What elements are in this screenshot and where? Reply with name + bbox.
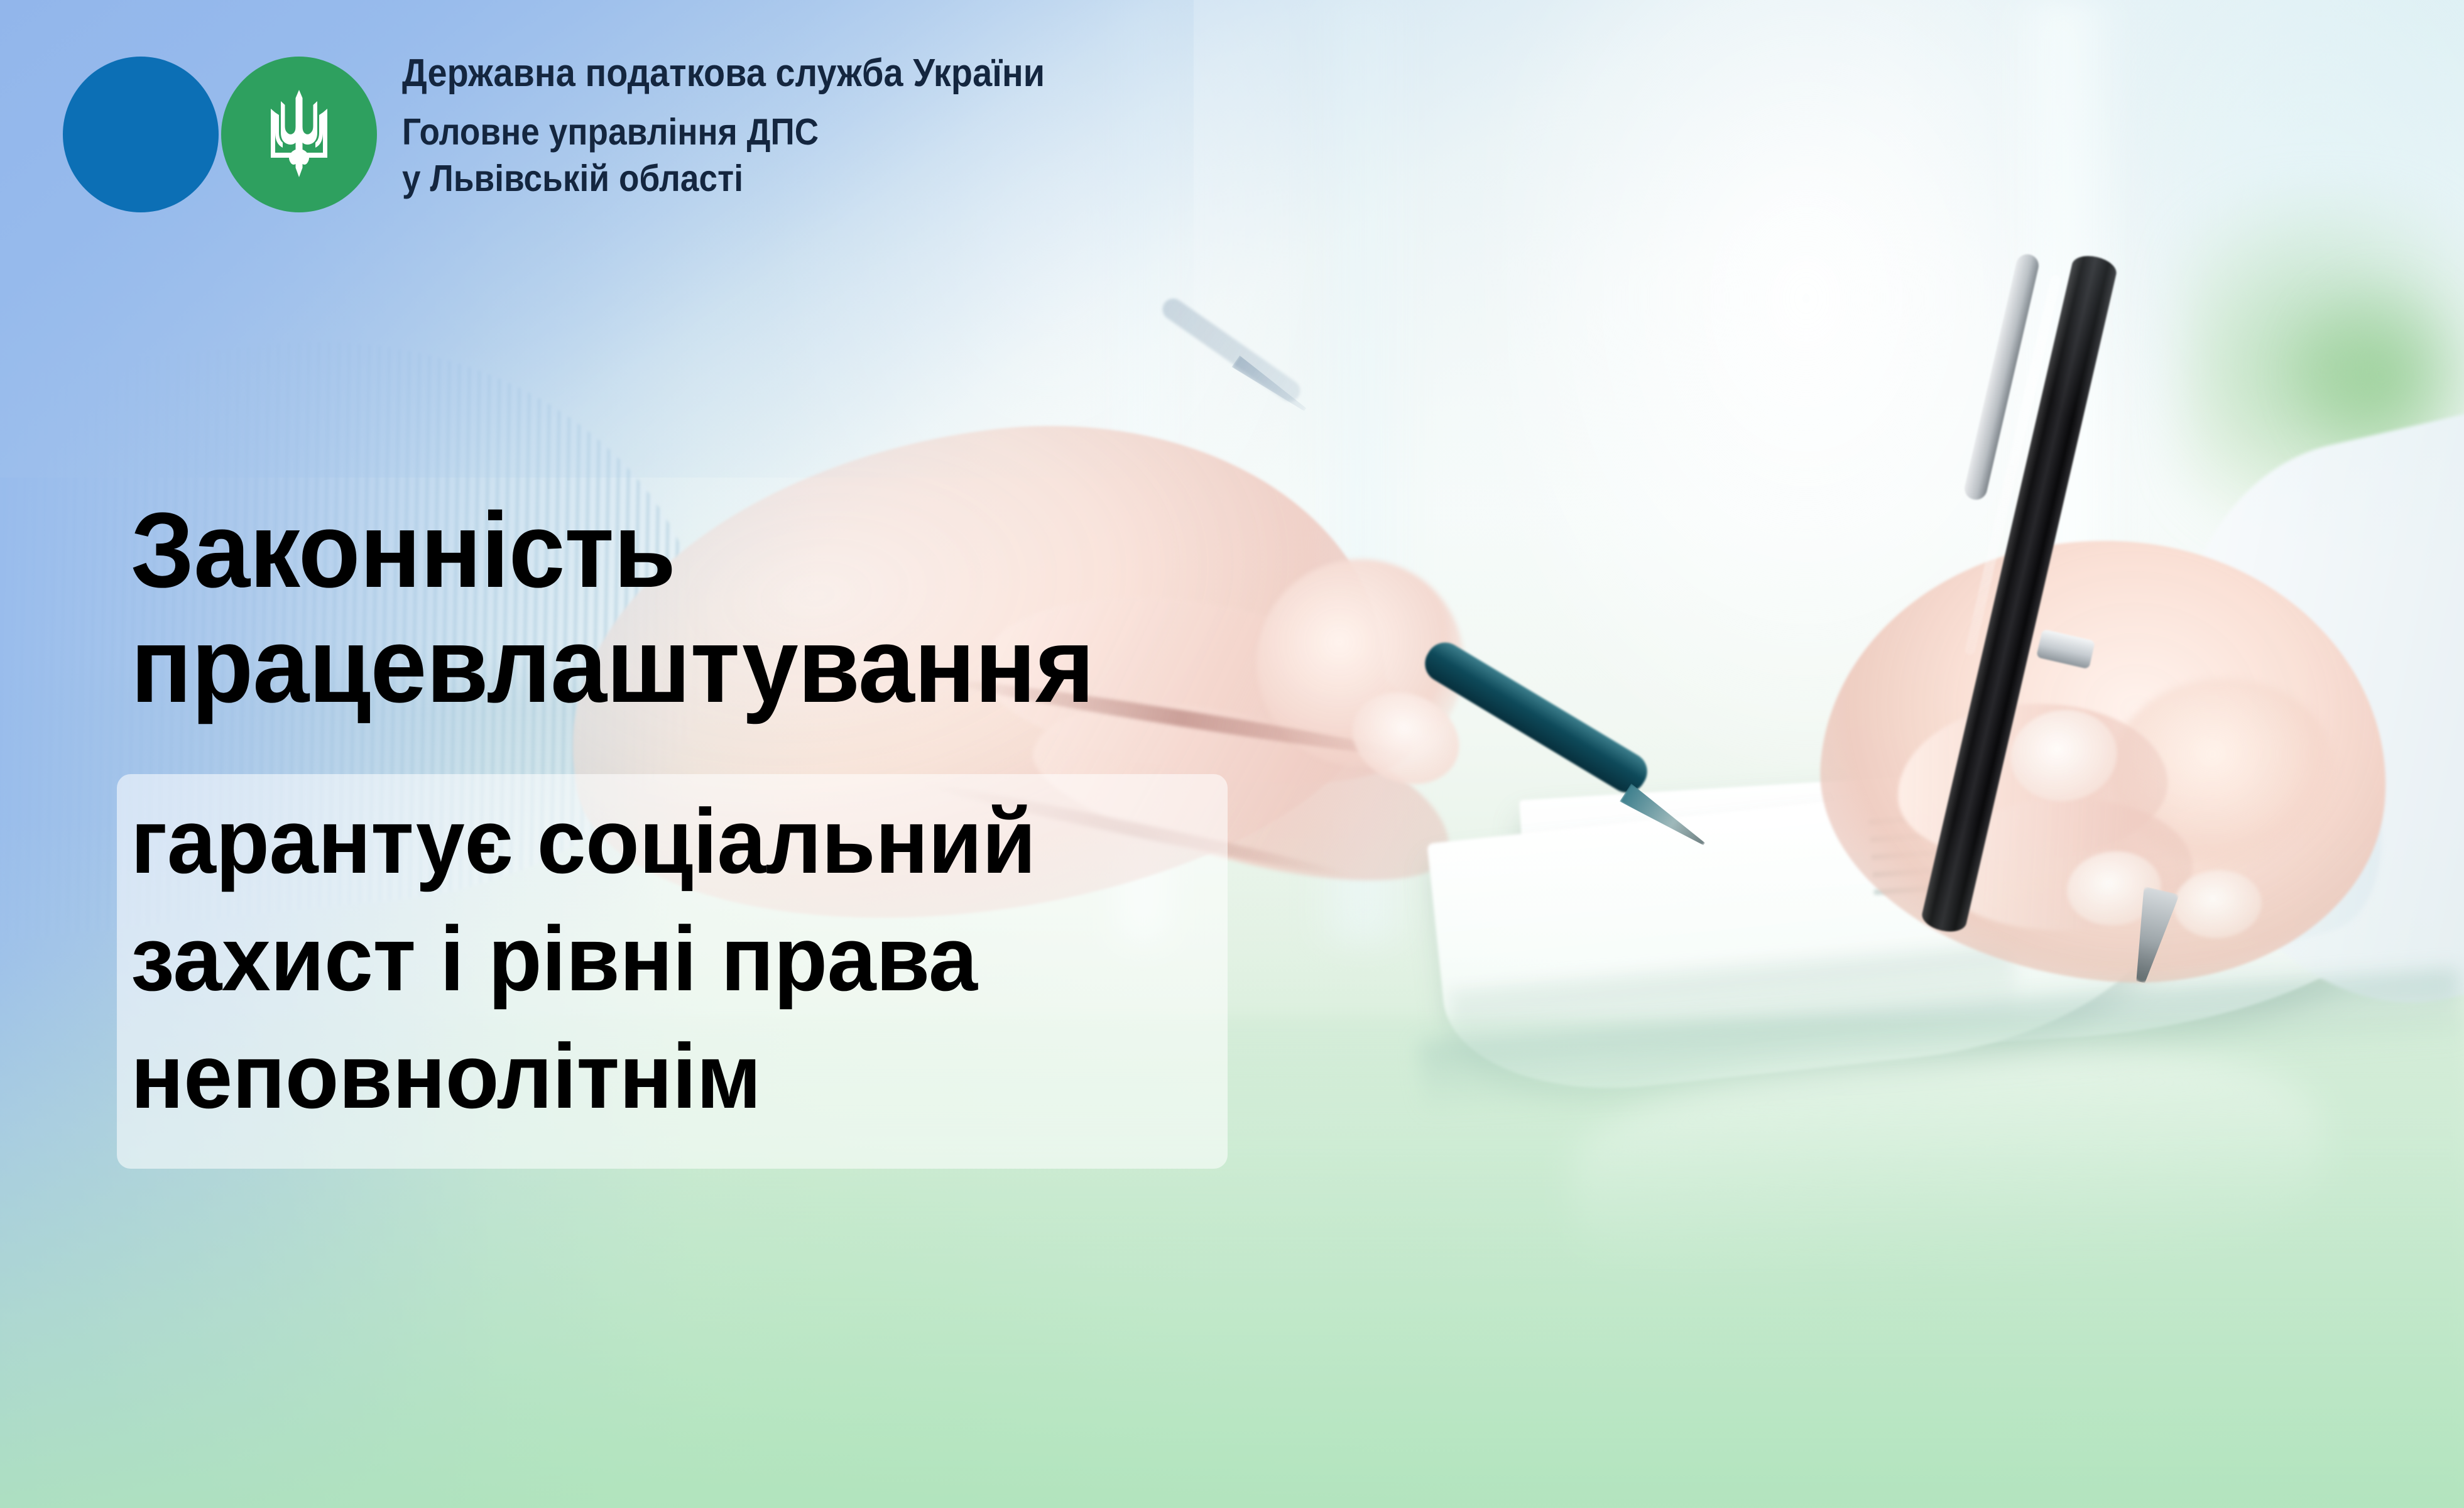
organization-header: Державна податкова служба України Головн… — [402, 54, 1470, 197]
headline-line-2: працевлаштування — [131, 611, 1324, 720]
org-line-1: Державна податкова служба України — [402, 54, 1363, 93]
ukraine-tryzub-icon — [262, 87, 336, 182]
org-line-2: Головне управління ДПС — [402, 114, 1363, 151]
headline-line-1: Законність — [131, 496, 1324, 605]
subtitle-line-3: неповнолітнім — [131, 1018, 1216, 1135]
headline: Законність працевлаштування — [131, 496, 1387, 721]
dps-green-dot — [221, 57, 377, 212]
subtitle-line-1: гарантує соціальний — [131, 783, 1216, 900]
banner-canvas: Державна податкова служба України Головн… — [0, 0, 2464, 1508]
subtitle-line-2: захист і рівні права — [131, 900, 1216, 1018]
dps-blue-dot — [63, 57, 219, 212]
org-line-3: у Львівській області — [402, 160, 1363, 197]
subtitle: гарантує соціальний захист і рівні права… — [131, 783, 1262, 1135]
dps-logo — [63, 57, 390, 215]
overlay-right-highlight — [1899, 0, 2464, 565]
